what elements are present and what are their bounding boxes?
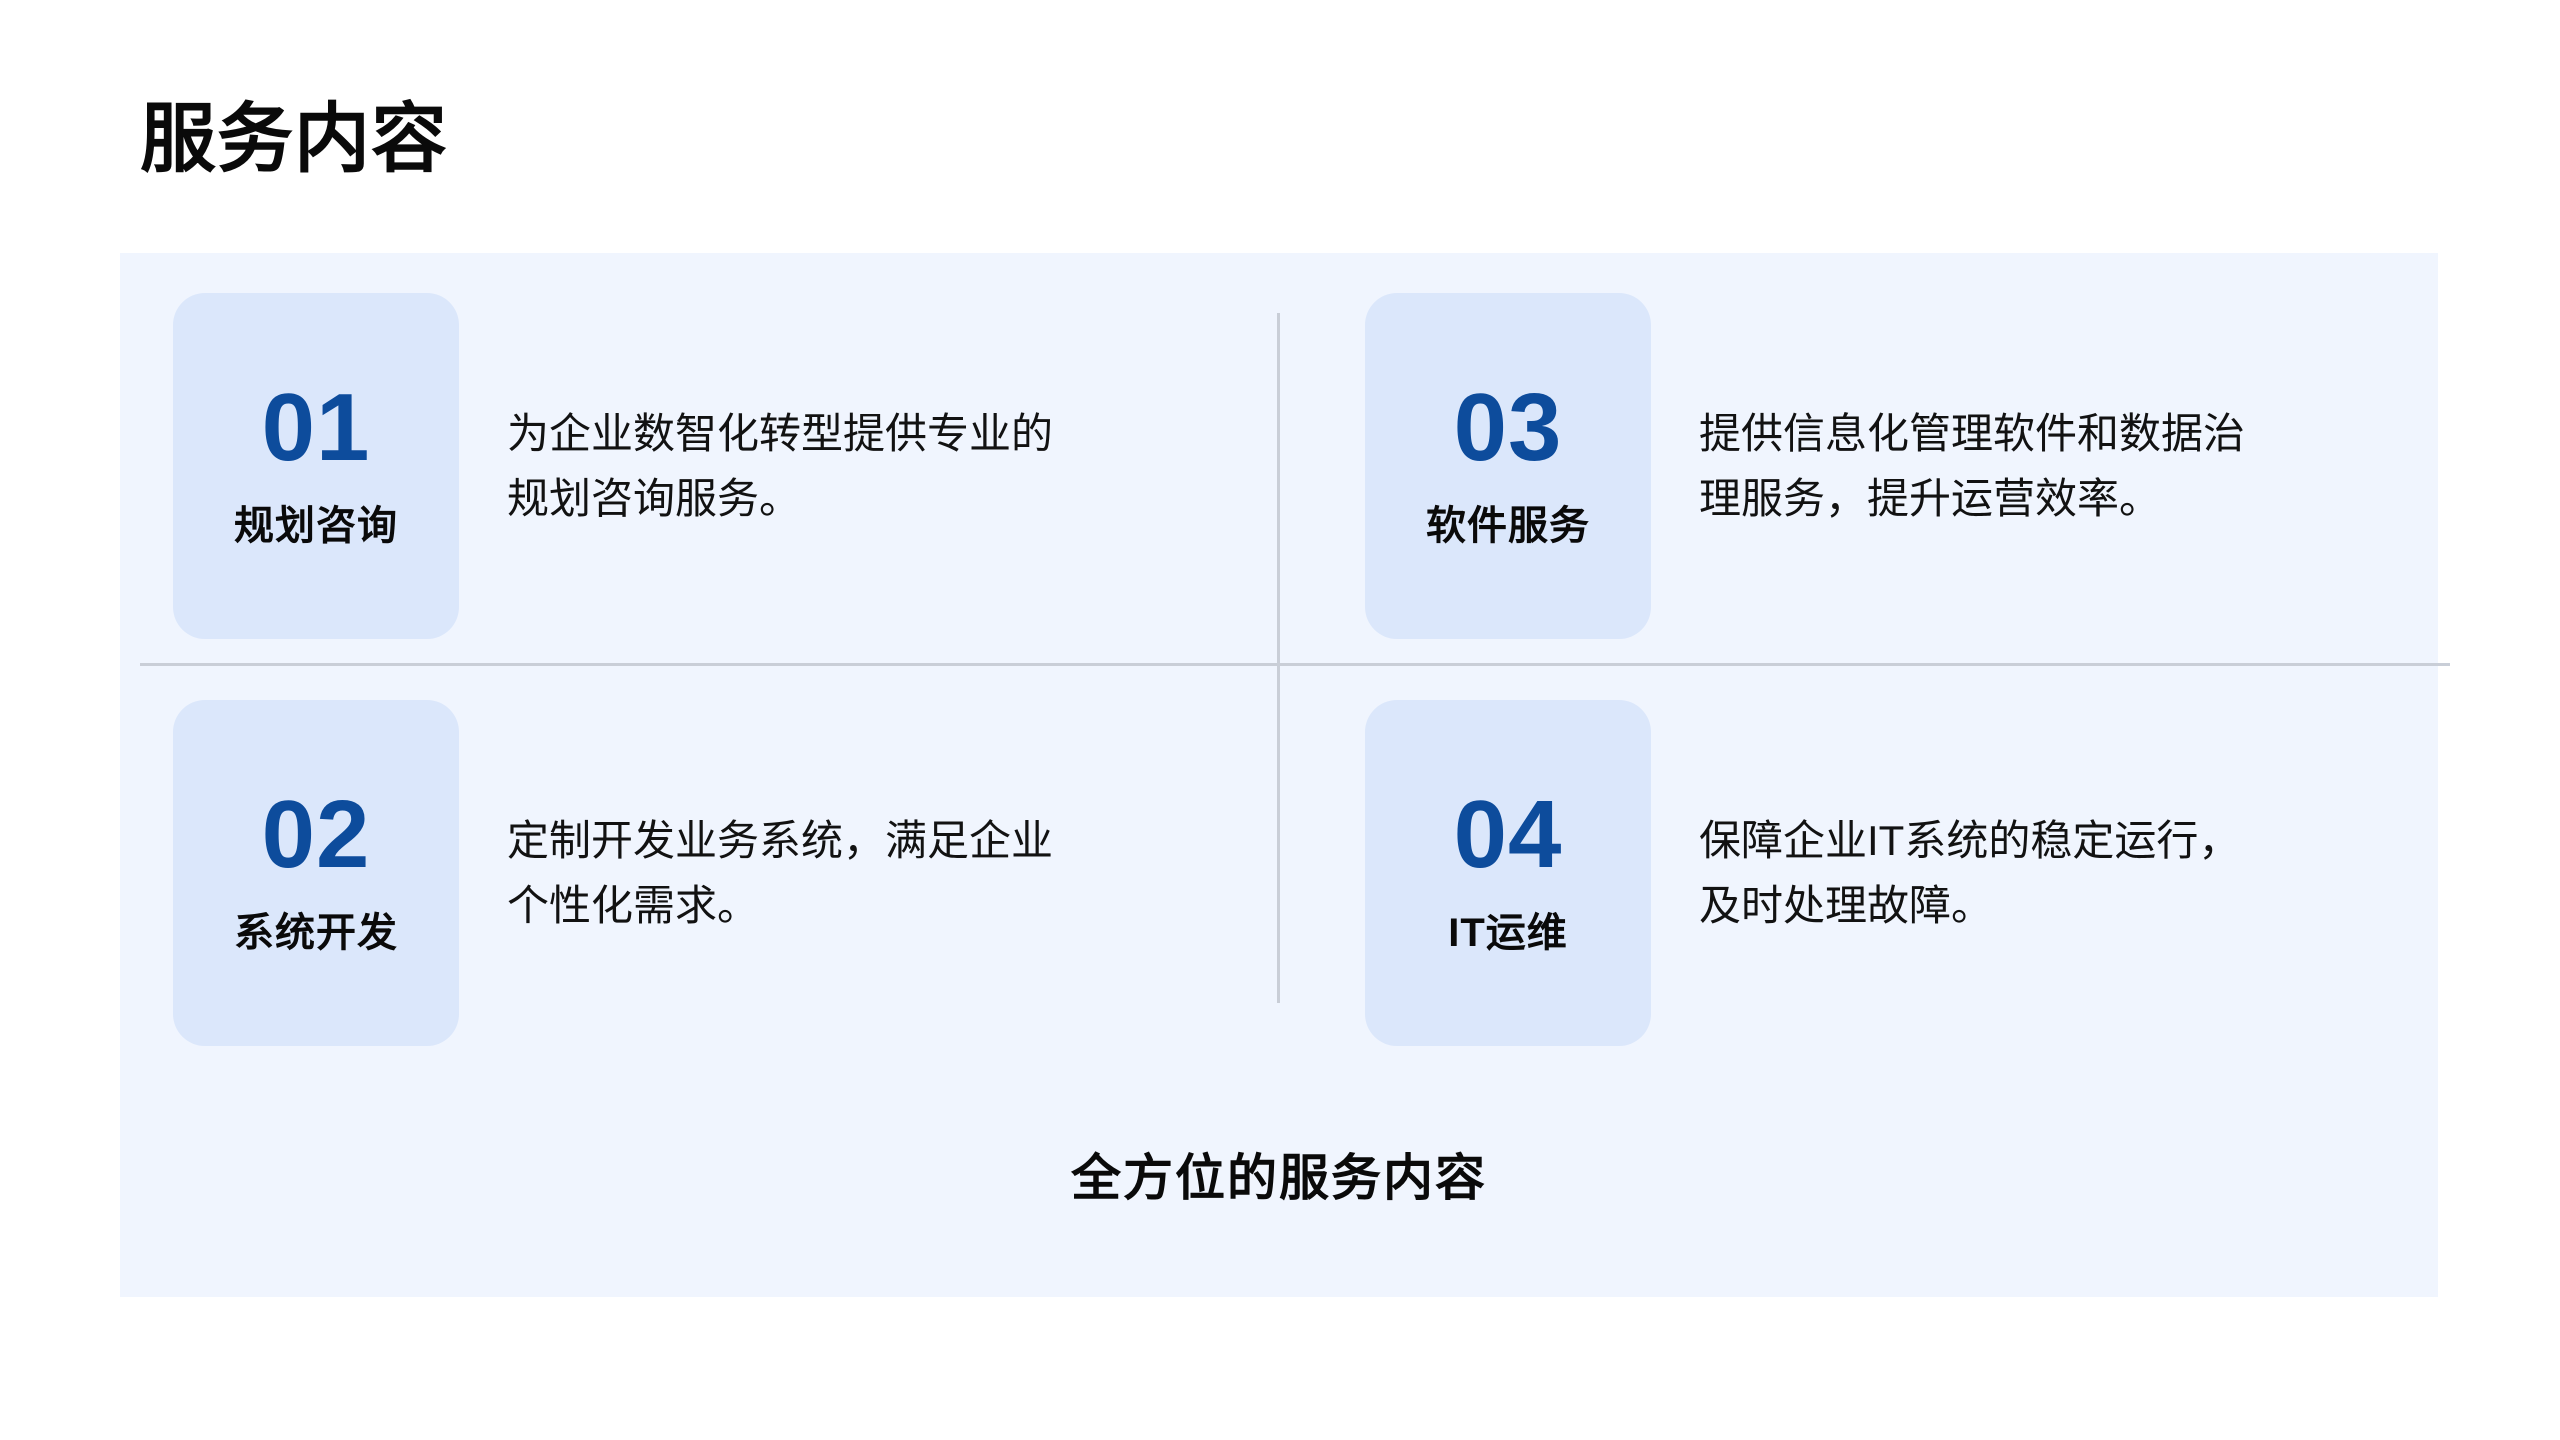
service-item-01[interactable]: 01 规划咨询 为企业数智化转型提供专业的 规划咨询服务。 [173, 293, 1187, 639]
service-item-03[interactable]: 03 软件服务 提供信息化管理软件和数据治 理服务，提升运营效率。 [1365, 293, 2379, 639]
service-label: 系统开发 [234, 911, 398, 955]
service-number: 04 [1454, 787, 1563, 883]
service-label: IT运维 [1448, 911, 1568, 955]
service-item-04[interactable]: 04 IT运维 保障企业IT系统的稳定运行， 及时处理故障。 [1365, 700, 2379, 1046]
service-badge-03: 03 软件服务 [1365, 293, 1651, 639]
service-description-02: 定制开发业务系统，满足企业 个性化需求。 [507, 808, 1187, 938]
service-badge-01: 01 规划咨询 [173, 293, 459, 639]
service-description-line-2: 及时处理故障。 [1699, 873, 2379, 938]
service-number: 01 [262, 380, 371, 476]
service-badge-02: 02 系统开发 [173, 700, 459, 1046]
service-label: 软件服务 [1426, 504, 1590, 548]
service-description-line-1: 为企业数智化转型提供专业的 [507, 401, 1187, 466]
service-description-04: 保障企业IT系统的稳定运行， 及时处理故障。 [1699, 808, 2379, 938]
service-description-line-2: 个性化需求。 [507, 873, 1187, 938]
service-description-line-1: 定制开发业务系统，满足企业 [507, 808, 1187, 873]
services-panel: 01 规划咨询 为企业数智化转型提供专业的 规划咨询服务。 02 系统开发 定制… [120, 253, 2438, 1297]
footer-caption: 全方位的服务内容 [120, 1138, 2438, 1210]
service-number: 02 [262, 787, 371, 883]
slide-root: 服务内容 01 规划咨询 为企业数智化转型提供专业的 规划咨询服务。 02 [0, 0, 2560, 1440]
service-item-02[interactable]: 02 系统开发 定制开发业务系统，满足企业 个性化需求。 [173, 700, 1187, 1046]
service-description-03: 提供信息化管理软件和数据治 理服务，提升运营效率。 [1699, 401, 2379, 531]
service-badge-04: 04 IT运维 [1365, 700, 1651, 1046]
page-title: 服务内容 [140, 98, 448, 182]
service-description-line-1: 保障企业IT系统的稳定运行， [1699, 808, 2379, 873]
service-label: 规划咨询 [234, 504, 398, 548]
service-description-line-1: 提供信息化管理软件和数据治 [1699, 401, 2379, 466]
service-number: 03 [1454, 380, 1563, 476]
service-description-01: 为企业数智化转型提供专业的 规划咨询服务。 [507, 401, 1187, 531]
service-description-line-2: 理服务，提升运营效率。 [1699, 466, 2379, 531]
service-description-line-2: 规划咨询服务。 [507, 466, 1187, 531]
